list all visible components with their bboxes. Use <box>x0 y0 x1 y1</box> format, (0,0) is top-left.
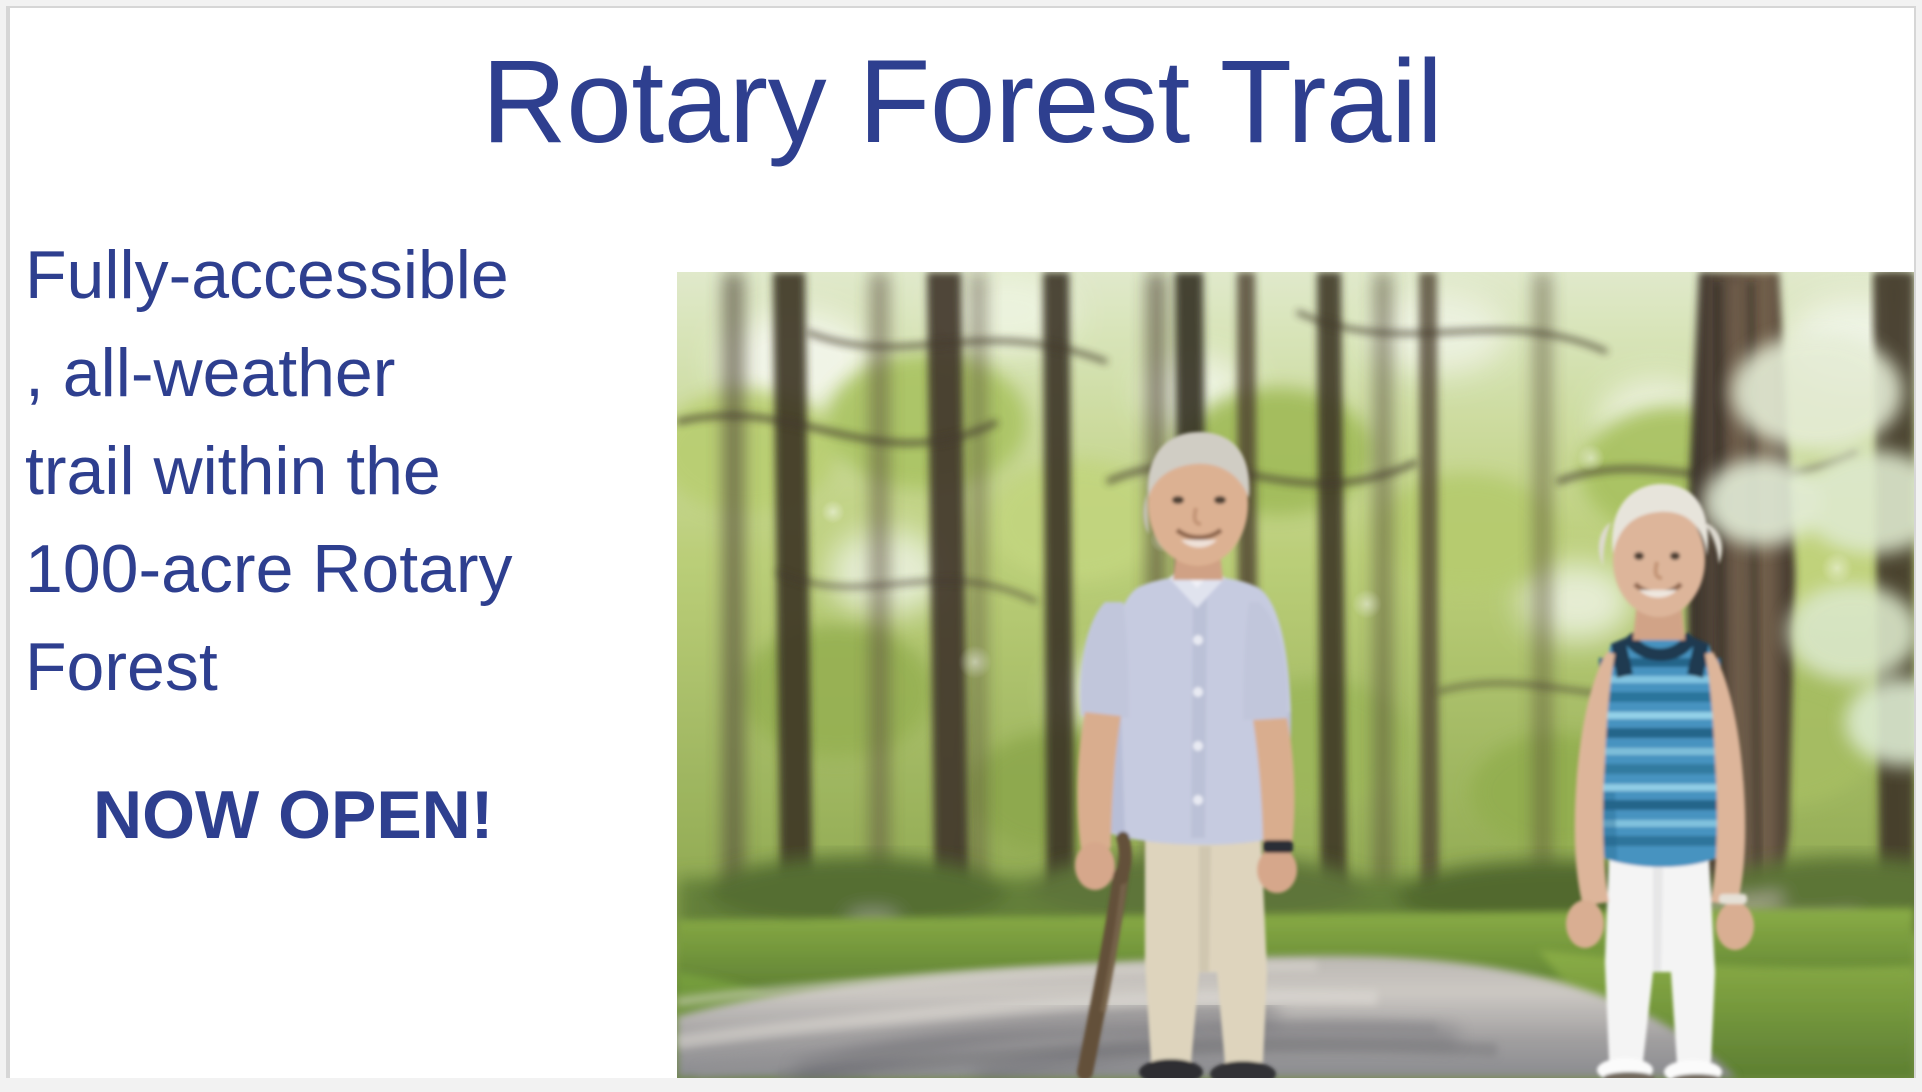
body-text-line: Fully-accessible <box>25 226 665 324</box>
page-title: Rotary Forest Trail <box>10 42 1914 162</box>
slide-viewport: Rotary Forest Trail Fully-accessible , a… <box>0 0 1922 1092</box>
body-text-line: trail within the <box>25 422 665 520</box>
body-text-line: 100-acre Rotary <box>25 520 665 618</box>
body-text-block: Fully-accessible , all-weather trail wit… <box>25 226 665 864</box>
body-text-line: Forest <box>25 618 665 716</box>
trail-photo <box>677 272 1914 1078</box>
trail-photo-illustration <box>677 272 1914 1078</box>
body-text-line: , all-weather <box>25 324 665 422</box>
presentation-slide: Rotary Forest Trail Fully-accessible , a… <box>10 8 1914 1078</box>
now-open-callout: NOW OPEN! <box>25 766 665 864</box>
